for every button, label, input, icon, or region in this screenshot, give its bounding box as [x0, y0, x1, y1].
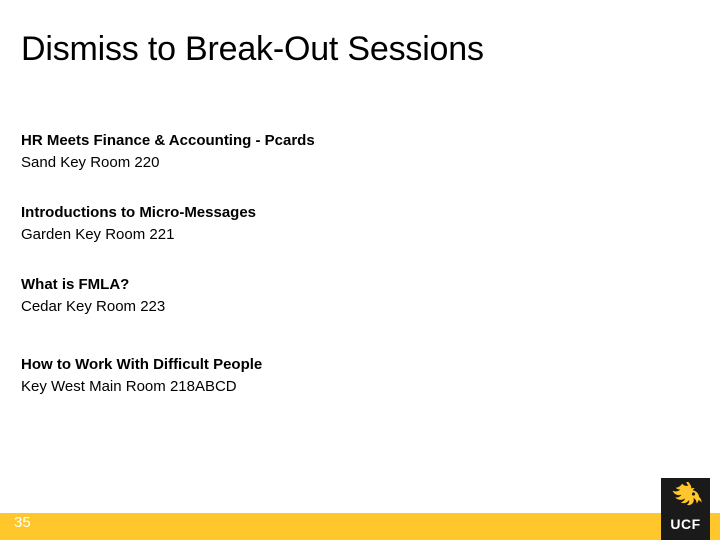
- footer-gold-bar: [0, 513, 720, 540]
- session-room: Garden Key Room 221: [21, 224, 681, 246]
- session-title: What is FMLA?: [21, 274, 681, 296]
- ucf-wordmark: UCF: [661, 516, 710, 532]
- session-title: Introductions to Micro-Messages: [21, 202, 681, 224]
- session-room: Sand Key Room 220: [21, 152, 681, 174]
- ucf-logo: UCF: [661, 478, 710, 540]
- list-item: How to Work With Difficult People Key We…: [21, 354, 681, 398]
- session-room: Key West Main Room 218ABCD: [21, 376, 681, 398]
- list-item: What is FMLA? Cedar Key Room 223: [21, 274, 681, 318]
- session-title: How to Work With Difficult People: [21, 354, 681, 376]
- session-list: HR Meets Finance & Accounting - Pcards S…: [21, 130, 681, 426]
- session-room: Cedar Key Room 223: [21, 296, 681, 318]
- page-title: Dismiss to Break-Out Sessions: [21, 28, 681, 70]
- slide-number: 35: [14, 513, 31, 532]
- ucf-pegasus-icon: [668, 482, 704, 514]
- presentation-slide: Dismiss to Break-Out Sessions HR Meets F…: [0, 0, 720, 540]
- list-item: HR Meets Finance & Accounting - Pcards S…: [21, 130, 681, 174]
- list-item: Introductions to Micro-Messages Garden K…: [21, 202, 681, 246]
- session-title: HR Meets Finance & Accounting - Pcards: [21, 130, 681, 152]
